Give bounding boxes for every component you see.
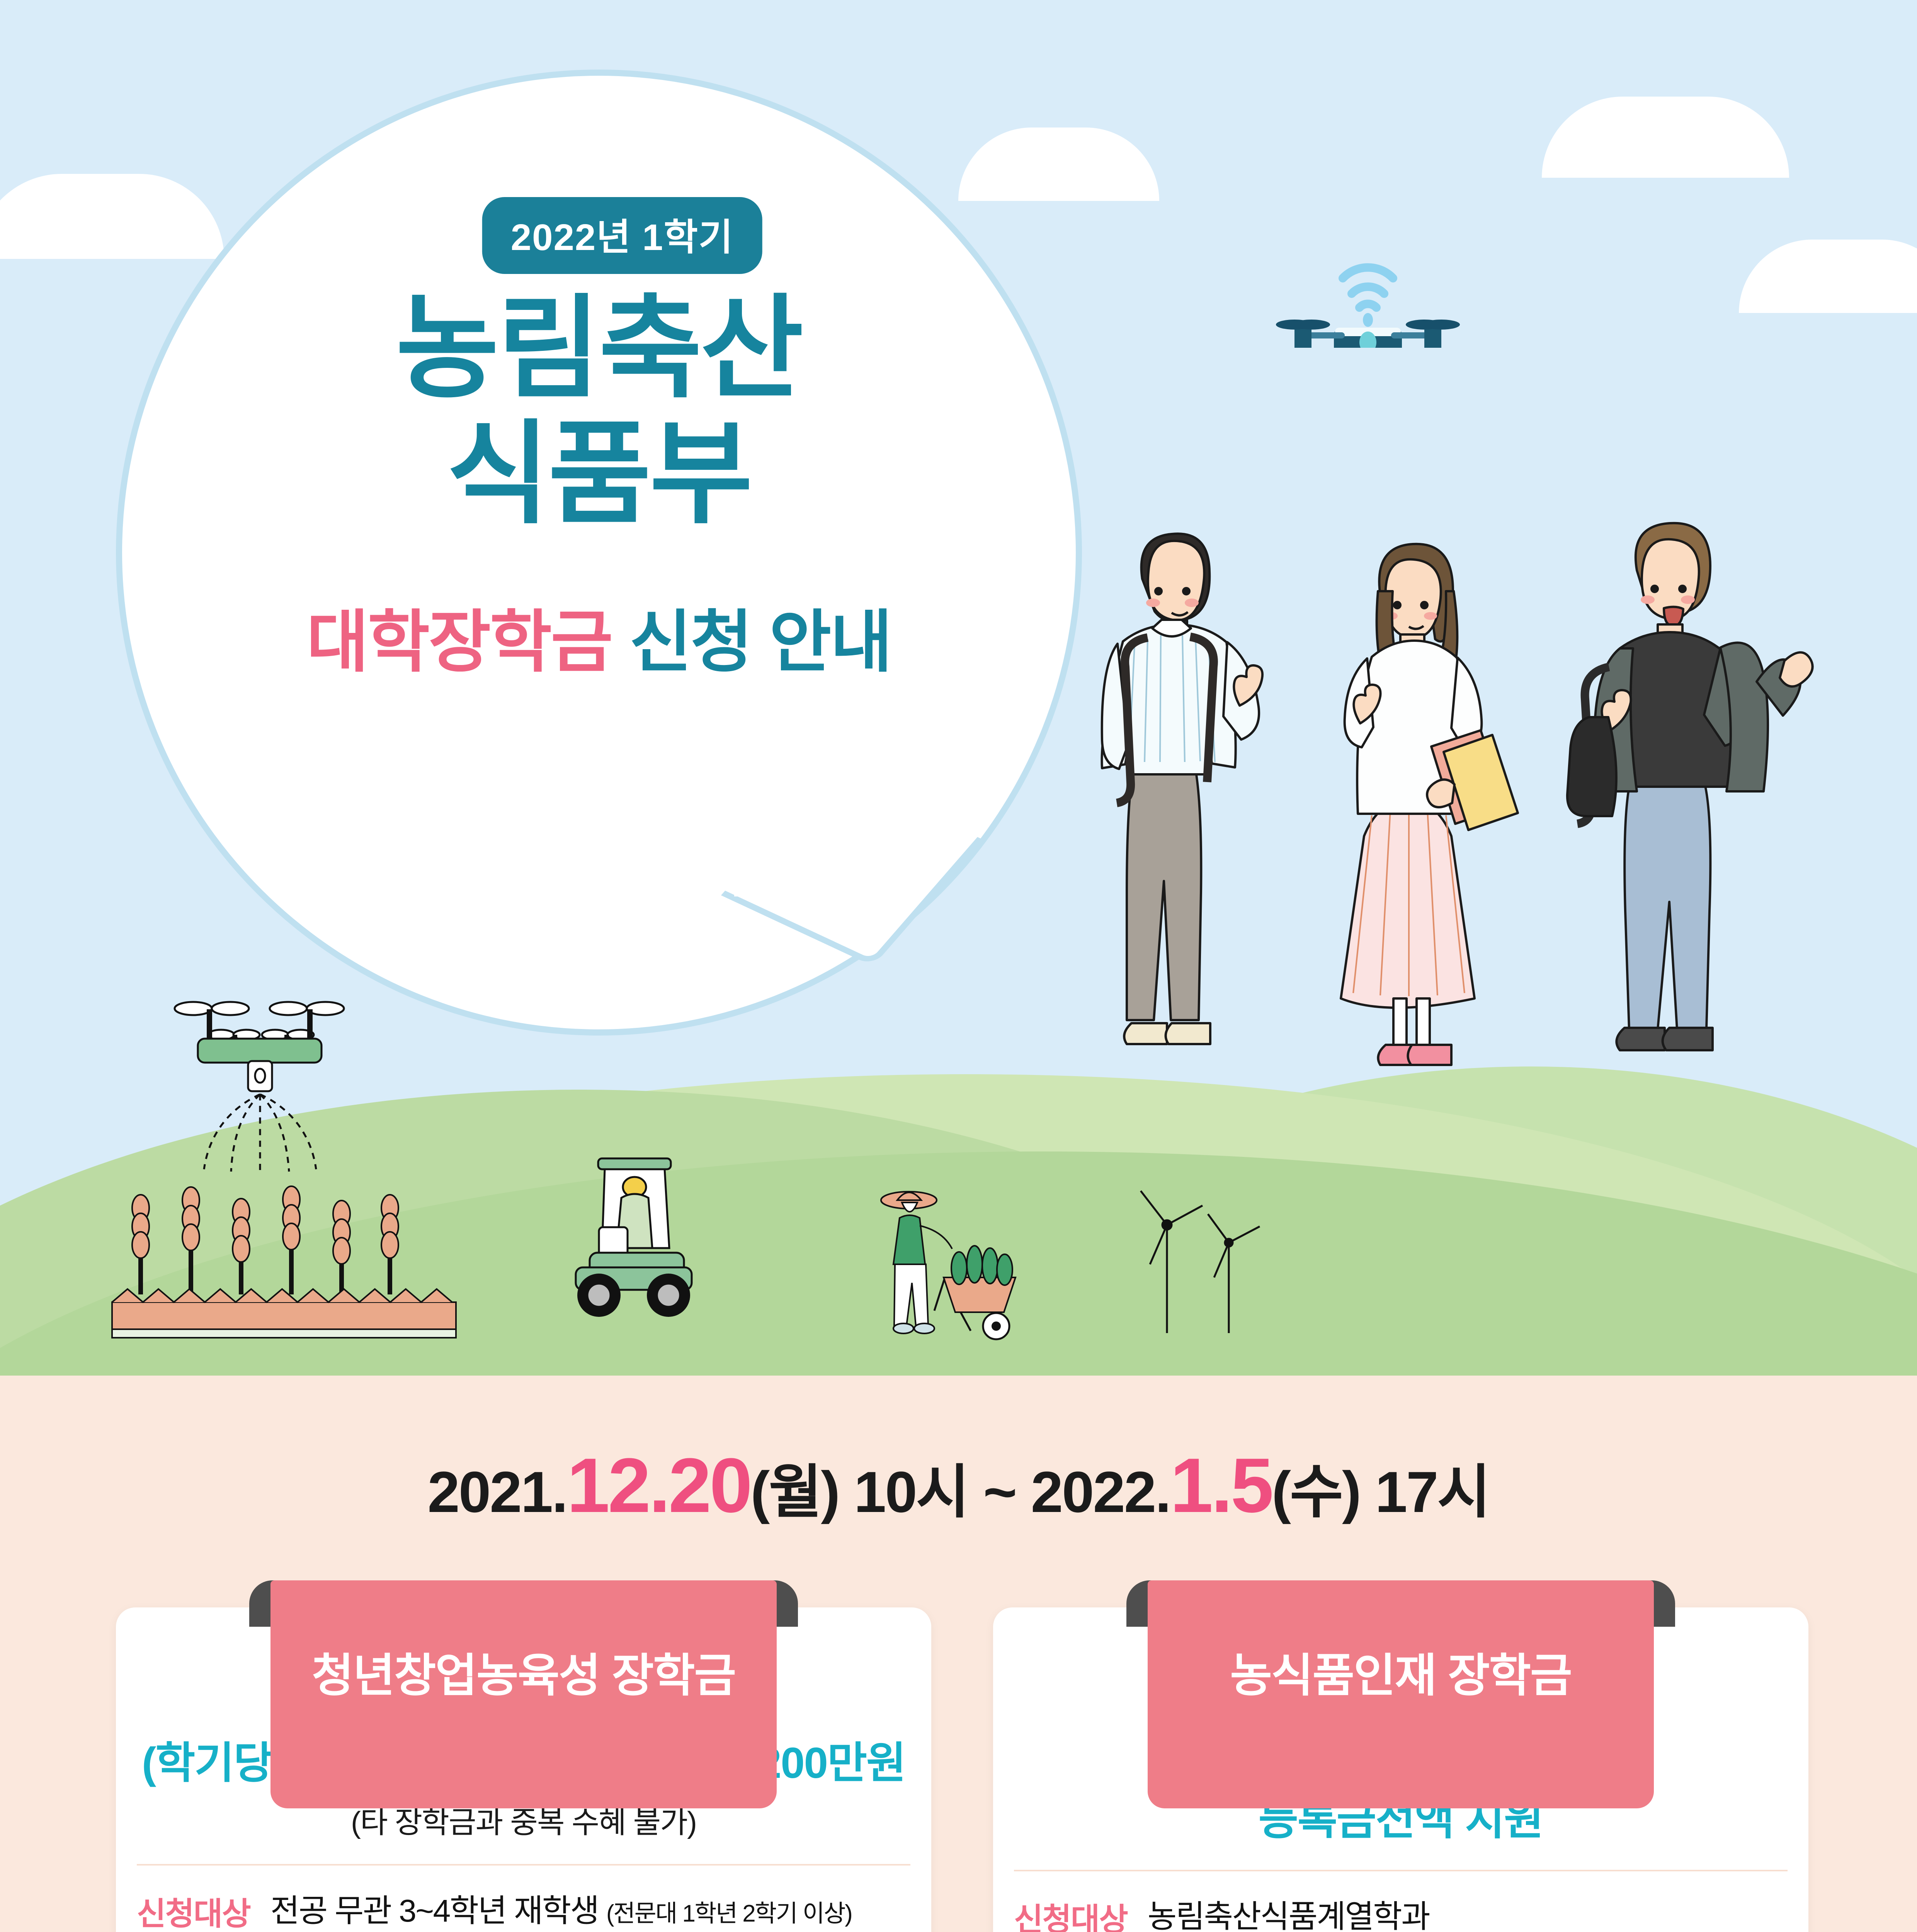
row-text: 전공 무관 3~4학년 재학생: [270, 1893, 599, 1929]
application-period: 2021.12.20(월) 10시 ~ 2022.1.5(수) 17시: [0, 1441, 1917, 1530]
scholarship-cards: 청년창업농육성 장학금 (학기당) 등록금 전액 + 학업장려금 200만원 (…: [116, 1607, 1808, 1932]
card-ribbon: 농식품인재 장학금: [1126, 1580, 1675, 1812]
hero-illustration: 2022년 1학기 농림축산 식품부 대학장학금 신청 안내: [0, 0, 1917, 1376]
hero-speech-bubble: 2022년 1학기 농림축산 식품부 대학장학금 신청 안내: [116, 70, 1128, 1082]
wheat-field-icon: [108, 1182, 464, 1345]
row-label: 신청대상: [137, 1886, 250, 1932]
scholarship-card-food-talent: 농식품인재 장학금 (학기당) 250만원 범위 내 등록금전액 지원 신청대상…: [993, 1607, 1808, 1932]
subtitle-rest: 신청 안내: [629, 605, 891, 680]
title-line-2: 식품부: [116, 412, 1082, 537]
card-title: 청년창업농육성 장학금: [249, 1638, 798, 1704]
term-badge: 2022년 1학기: [482, 197, 762, 274]
tractor-icon: [553, 1151, 719, 1321]
row-label: 신청대상: [1014, 1892, 1128, 1932]
detail-row: 신청대상 전공 무관 3~4학년 재학생 (전문대 1학년 2학기 이상): [137, 1886, 910, 1932]
period-middle: (월) 10시 ~ 2022.: [750, 1459, 1170, 1524]
subtitle-highlight: 대학장학금: [306, 605, 612, 680]
period-end-date: 1.5: [1170, 1442, 1272, 1529]
row-body: 전공 무관 3~4학년 재학생 (전문대 1학년 2학기 이상): [270, 1886, 852, 1932]
period-suffix: (수) 17시: [1272, 1459, 1489, 1524]
period-prefix: 2021.: [427, 1459, 566, 1524]
drone-icon: [1248, 232, 1488, 348]
page-subtitle: 대학장학금 신청 안내: [116, 587, 1082, 685]
students-illustration: [1067, 475, 1886, 1302]
card-detail-rows: 신청대상 농림축산식품계열학과 1학년 2학기~2학년 2학기 재학생(전문대 …: [1014, 1892, 1788, 1932]
row-body: 농림축산식품계열학과 1학년 2학기~2학년 2학기 재학생(전문대 제외): [1148, 1892, 1691, 1932]
bubble-tail-mask: [734, 742, 896, 896]
card-title: 농식품인재 장학금: [1126, 1638, 1675, 1704]
poster-root: 2022년 1학기 농림축산 식품부 대학장학금 신청 안내 2021.12.2…: [0, 0, 1917, 1932]
title-line-1: 농림축산: [116, 286, 1082, 412]
row-small-note: (전문대 1학년 2학기 이상): [606, 1900, 852, 1927]
detail-row: 신청대상 농림축산식품계열학과 1학년 2학기~2학년 2학기 재학생(전문대 …: [1014, 1892, 1788, 1932]
card-ribbon: 청년창업농육성 장학금: [249, 1580, 798, 1812]
row-text: 농림축산식품계열학과 1학년 2학기~2학년 2학기 재학생: [1148, 1899, 1565, 1932]
page-title: 농림축산 식품부: [116, 286, 1082, 537]
farmer-wheelbarrow-icon: [862, 1182, 1047, 1345]
scholarship-card-youth-startup: 청년창업농육성 장학금 (학기당) 등록금 전액 + 학업장려금 200만원 (…: [116, 1607, 931, 1932]
period-start-date: 12.20: [567, 1442, 751, 1529]
card-divider: [137, 1864, 910, 1866]
card-detail-rows: 신청대상 전공 무관 3~4학년 재학생 (전문대 1학년 2학기 이상) 신청…: [137, 1886, 910, 1932]
card-divider: [1014, 1870, 1788, 1871]
